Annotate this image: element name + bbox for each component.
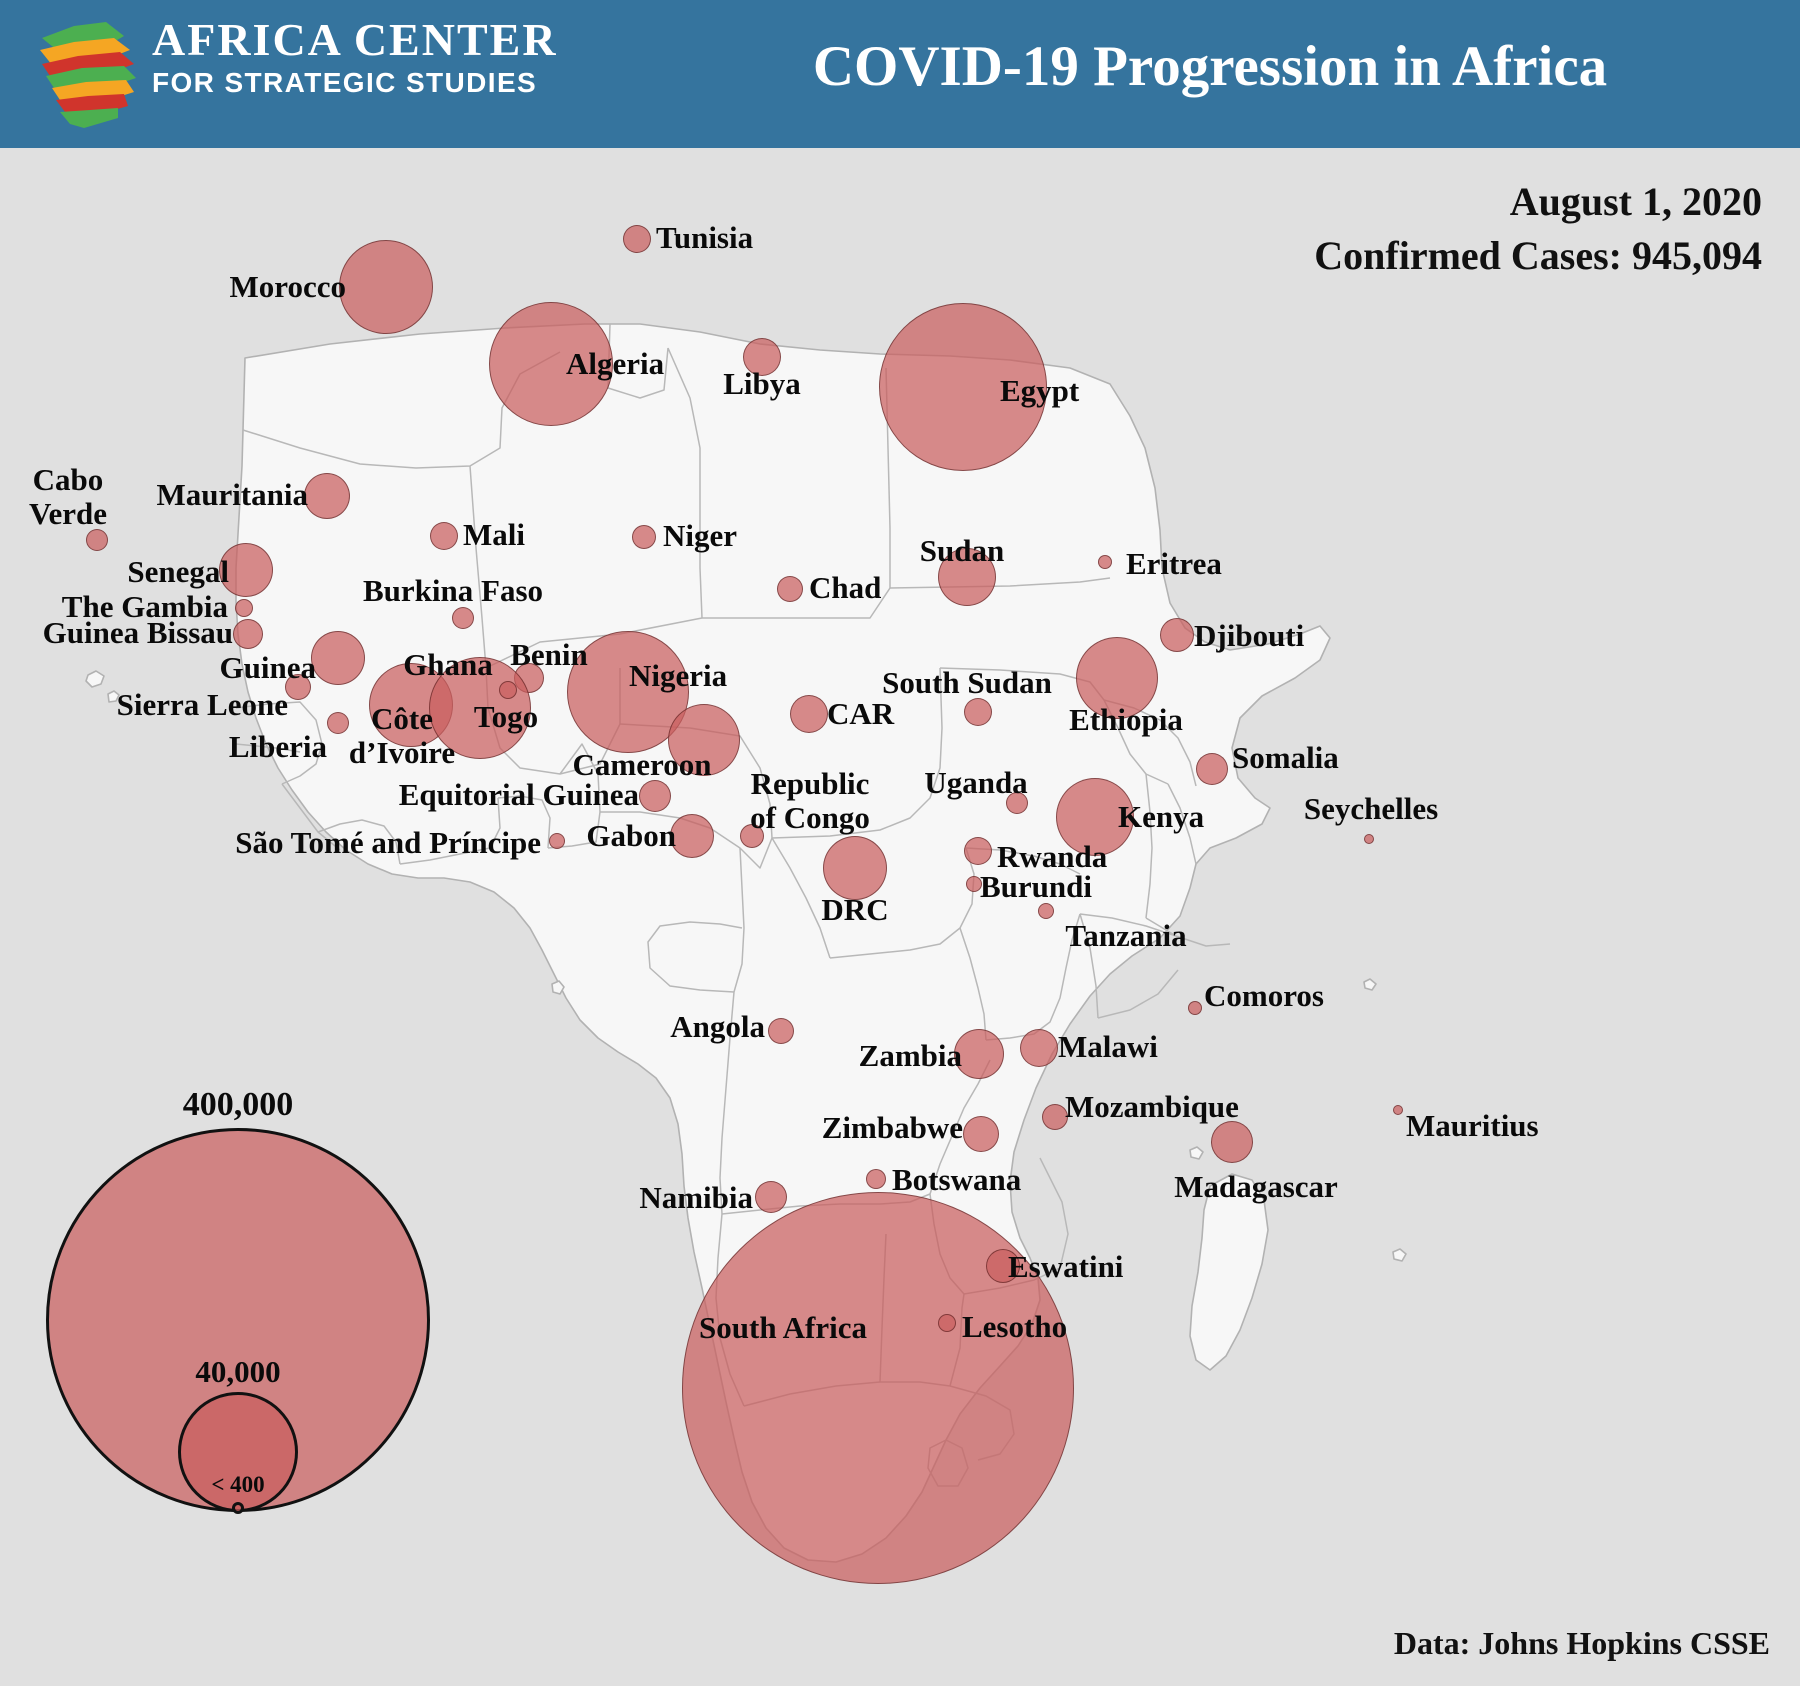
legend-circle-400[interactable] bbox=[232, 1502, 244, 1514]
page-title: COVID-19 Progression in Africa bbox=[640, 34, 1780, 99]
covid-africa-infographic: AFRICA CENTER FOR STRATEGIC STUDIES COVI… bbox=[0, 0, 1800, 1686]
country-label-seychelles: Seychelles bbox=[1304, 792, 1438, 826]
case-bubble-madagascar[interactable] bbox=[1211, 1121, 1253, 1163]
country-label-libya: Libya bbox=[723, 367, 801, 401]
case-bubble-chad[interactable] bbox=[777, 576, 803, 602]
case-bubble-angola[interactable] bbox=[768, 1018, 794, 1044]
country-label-south-africa: South Africa bbox=[699, 1311, 867, 1345]
case-bubble-cabo-verde[interactable] bbox=[86, 529, 108, 551]
country-label-mauritius: Mauritius bbox=[1406, 1109, 1539, 1143]
country-label-drc: DRC bbox=[821, 893, 888, 927]
country-label-ethiopia: Ethiopia bbox=[1069, 703, 1183, 737]
case-bubble-botswana[interactable] bbox=[866, 1169, 886, 1189]
case-bubble-tanzania[interactable] bbox=[1038, 903, 1054, 919]
country-label-togo: Togo bbox=[474, 700, 538, 734]
case-bubble-rwanda[interactable] bbox=[964, 837, 992, 865]
case-bubble-liberia[interactable] bbox=[327, 712, 349, 734]
country-label-niger: Niger bbox=[663, 519, 737, 553]
case-bubble-togo[interactable] bbox=[499, 681, 517, 699]
case-bubble-seychelles[interactable] bbox=[1364, 834, 1374, 844]
country-label-cabo-verde: Cabo Verde bbox=[29, 463, 107, 531]
country-label-benin: Benin bbox=[510, 638, 588, 672]
country-label-mali: Mali bbox=[463, 518, 525, 552]
case-bubble-tunisia[interactable] bbox=[623, 225, 651, 253]
country-label-sudan: Sudan bbox=[920, 534, 1004, 568]
case-bubble-mauritius[interactable] bbox=[1393, 1105, 1403, 1115]
case-bubble-comoros[interactable] bbox=[1188, 1001, 1202, 1015]
country-label-republic-of-congo: Republic of Congo bbox=[750, 767, 870, 835]
case-bubble-equitorial-guinea[interactable] bbox=[639, 780, 671, 812]
country-label-mozambique: Mozambique bbox=[1065, 1090, 1239, 1124]
country-label-angola: Angola bbox=[670, 1010, 765, 1044]
country-label-namibia: Namibia bbox=[639, 1181, 753, 1215]
case-bubble-niger[interactable] bbox=[632, 525, 656, 549]
logo-line-africa-center: AFRICA CENTER bbox=[152, 14, 572, 66]
country-label-sierra-leone: Sierra Leone bbox=[117, 688, 288, 722]
legend-label-400: < 400 bbox=[211, 1472, 264, 1498]
country-label-egypt: Egypt bbox=[1000, 374, 1079, 408]
case-bubble-malawi[interactable] bbox=[1020, 1029, 1058, 1067]
country-label-senegal: Senegal bbox=[127, 555, 229, 589]
country-label-algeria: Algeria bbox=[566, 347, 664, 381]
case-bubble-gabon[interactable] bbox=[670, 814, 714, 858]
country-label-car: CAR bbox=[827, 697, 894, 731]
country-label-eritrea: Eritrea bbox=[1126, 547, 1222, 581]
country-label-zambia: Zambia bbox=[859, 1039, 962, 1073]
country-label-djibouti: Djibouti bbox=[1194, 619, 1304, 653]
country-label-morocco: Morocco bbox=[230, 270, 346, 304]
case-bubble-sao-tome-and-principe[interactable] bbox=[549, 833, 565, 849]
africa-continent-stripes-icon bbox=[32, 18, 142, 130]
country-label-chad: Chad bbox=[809, 571, 881, 605]
organization-logo-text: AFRICA CENTER FOR STRATEGIC STUDIES bbox=[152, 14, 572, 100]
country-label-comoros: Comoros bbox=[1204, 979, 1324, 1013]
case-bubble-drc[interactable] bbox=[823, 836, 887, 900]
country-label-burkina-faso: Burkina Faso bbox=[363, 574, 543, 608]
country-label-mauritania: Mauritania bbox=[156, 478, 308, 512]
country-label-equitorial-guinea: Equitorial Guinea bbox=[399, 778, 639, 812]
country-label-nigeria: Nigeria bbox=[629, 659, 727, 693]
country-label-lesotho: Lesotho bbox=[962, 1310, 1067, 1344]
case-bubble-guinea[interactable] bbox=[311, 631, 365, 685]
country-label-gabon: Gabon bbox=[586, 819, 676, 853]
page-header: AFRICA CENTER FOR STRATEGIC STUDIES COVI… bbox=[0, 0, 1800, 148]
case-bubble-south-sudan[interactable] bbox=[964, 698, 992, 726]
legend-label-40000: 40,000 bbox=[195, 1354, 280, 1390]
case-bubble-guinea-bissau[interactable] bbox=[233, 619, 263, 649]
country-label-south-sudan: South Sudan bbox=[882, 666, 1052, 700]
country-label-uganda: Uganda bbox=[924, 766, 1027, 800]
case-bubble-the-gambia[interactable] bbox=[235, 599, 253, 617]
country-label-somalia: Somalia bbox=[1232, 741, 1339, 775]
country-label-sao-tome-and-principe: São Tomé and Príncipe bbox=[235, 826, 541, 860]
country-label-botswana: Botswana bbox=[892, 1163, 1021, 1197]
legend-label-400000: 400,000 bbox=[183, 1086, 294, 1124]
case-bubble-zimbabwe[interactable] bbox=[963, 1116, 999, 1152]
country-label-liberia: Liberia bbox=[229, 730, 327, 764]
country-label-tunisia: Tunisia bbox=[656, 221, 753, 255]
case-bubble-mauritania[interactable] bbox=[304, 473, 350, 519]
case-bubble-lesotho[interactable] bbox=[938, 1314, 956, 1332]
case-bubble-somalia[interactable] bbox=[1196, 753, 1228, 785]
country-label-ghana: Ghana bbox=[403, 648, 493, 682]
case-bubble-djibouti[interactable] bbox=[1160, 618, 1194, 652]
logo-line-for-strategic-studies: FOR STRATEGIC STUDIES bbox=[152, 66, 572, 100]
case-bubble-eritrea[interactable] bbox=[1098, 555, 1112, 569]
country-label-kenya: Kenya bbox=[1118, 800, 1204, 834]
case-bubble-namibia[interactable] bbox=[755, 1181, 787, 1213]
case-bubble-car[interactable] bbox=[790, 695, 828, 733]
case-bubble-burkina-faso[interactable] bbox=[452, 607, 474, 629]
country-label-guinea-bissau: Guinea Bissau bbox=[43, 616, 233, 650]
case-bubble-mali[interactable] bbox=[430, 522, 458, 550]
country-label-tanzania: Tanzania bbox=[1065, 919, 1186, 953]
country-label-eswatini: Eswatini bbox=[1008, 1250, 1123, 1284]
country-label-madagascar: Madagascar bbox=[1174, 1170, 1338, 1204]
country-label-malawi: Malawi bbox=[1058, 1030, 1158, 1064]
country-label-guinea: Guinea bbox=[220, 651, 316, 685]
case-bubble-morocco[interactable] bbox=[339, 240, 433, 334]
country-label-cote-d-ivoire: Côte d’Ivoire bbox=[349, 702, 455, 770]
country-label-burundi: Burundi bbox=[980, 870, 1092, 904]
data-source-credit: Data: Johns Hopkins CSSE bbox=[1394, 1625, 1770, 1662]
country-label-zimbabwe: Zimbabwe bbox=[822, 1111, 963, 1145]
